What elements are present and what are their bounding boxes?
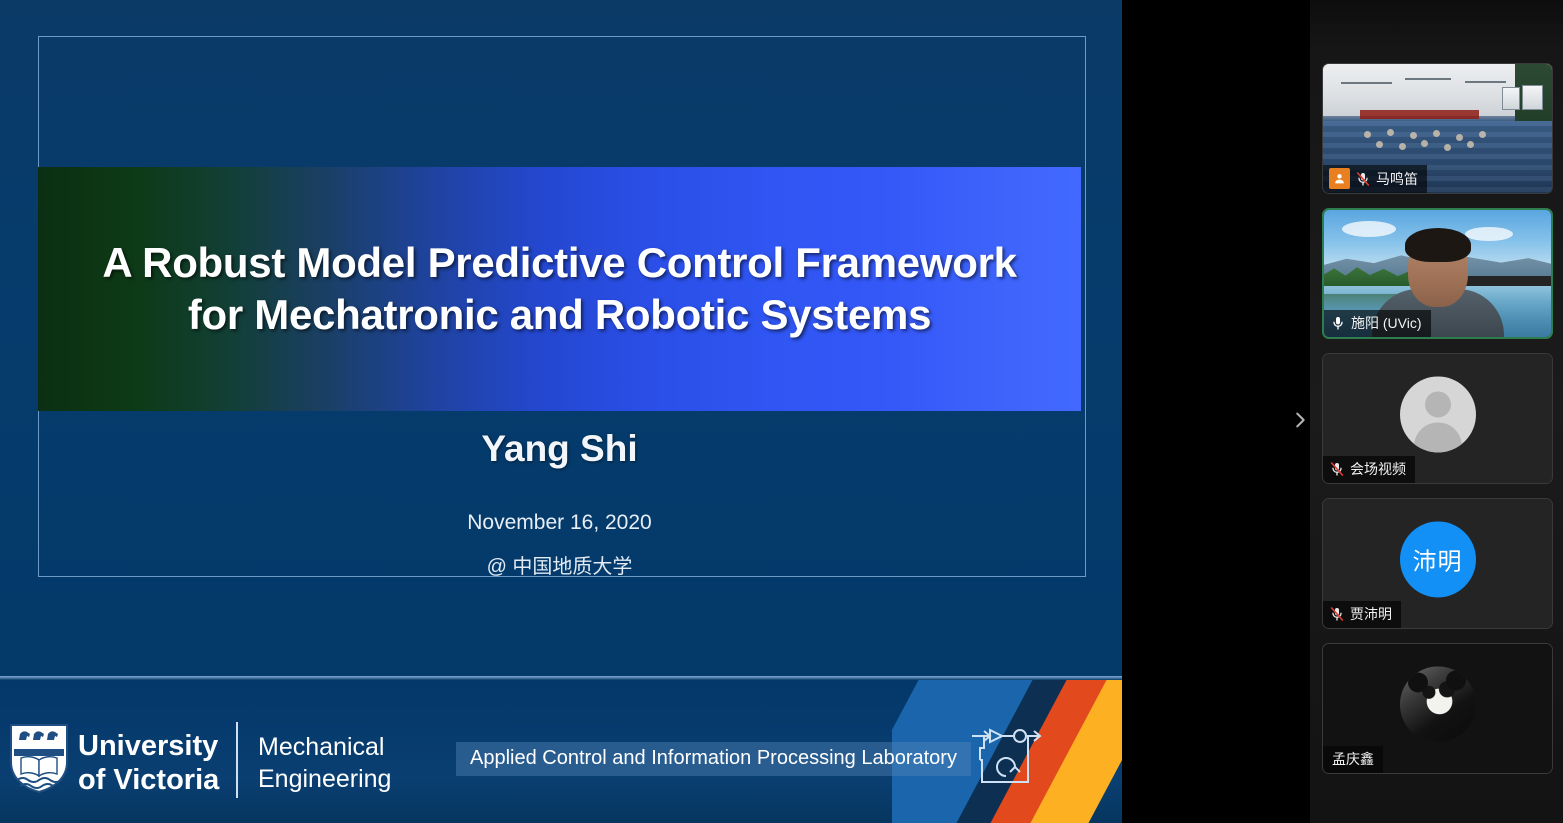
participant-name: 施阳 (UVic): [1351, 313, 1422, 333]
slide-title-line1: A Robust Model Predictive Control Framew…: [102, 239, 1016, 286]
slide-date: November 16, 2020: [38, 511, 1081, 535]
participant-name: 马鸣笛: [1376, 169, 1418, 189]
zoom-meeting-window: A Robust Model Predictive Control Framew…: [0, 0, 1563, 823]
slide-canvas: A Robust Model Predictive Control Framew…: [0, 0, 1122, 676]
participant-name: 孟庆鑫: [1332, 749, 1374, 769]
participant-name-label: 贾沛明: [1323, 601, 1401, 628]
shared-screen-presentation[interactable]: A Robust Model Predictive Control Framew…: [0, 0, 1122, 823]
slide-venue: @ 中国地质大学: [38, 550, 1081, 579]
slide-title-line2: for Mechatronic and Robotic Systems: [188, 291, 931, 338]
default-avatar-icon: [1400, 376, 1476, 452]
photo-avatar-panda: [1400, 666, 1476, 742]
participant-tile[interactable]: 孟庆鑫: [1322, 643, 1553, 774]
chevron-right-icon[interactable]: [1288, 405, 1312, 435]
participant-name-label: 孟庆鑫: [1323, 746, 1383, 773]
department-line1: Mechanical: [258, 732, 391, 764]
slide-title-banner: A Robust Model Predictive Control Framew…: [38, 167, 1081, 411]
participant-tile[interactable]: 沛明 贾沛明: [1322, 498, 1553, 629]
slide-author: Yang Shi: [38, 428, 1081, 470]
university-line2: of Victoria: [78, 764, 219, 798]
participant-name: 贾沛明: [1350, 604, 1392, 624]
participant-name-label: 会场视频: [1323, 456, 1415, 483]
slide-title: A Robust Model Predictive Control Framew…: [38, 237, 1081, 342]
department-line2: Engineering: [258, 764, 391, 796]
brand-divider-rule: [236, 722, 238, 798]
participant-tile-active-speaker[interactable]: 施阳 (UVic): [1322, 208, 1553, 339]
mic-muted-icon: [1355, 170, 1371, 188]
participant-name: 会场视频: [1350, 459, 1406, 479]
control-loop-diagram-icon: [966, 718, 1044, 790]
sidebar-gap: [1122, 0, 1310, 823]
participant-name-label: 施阳 (UVic): [1324, 310, 1431, 337]
mic-active-icon: [1330, 314, 1346, 332]
participant-tile[interactable]: 马鸣笛: [1322, 63, 1553, 194]
uvic-shield-crest-icon: [8, 722, 70, 794]
participant-tile[interactable]: 会场视频: [1322, 353, 1553, 484]
department-name: Mechanical Engineering: [258, 732, 391, 795]
lab-name-chip: Applied Control and Information Processi…: [456, 742, 971, 776]
participant-hair: [1405, 228, 1471, 262]
mic-muted-icon: [1329, 460, 1345, 478]
mic-muted-icon: [1329, 605, 1345, 623]
university-line1: University: [78, 730, 219, 764]
host-badge-icon: [1329, 168, 1350, 189]
initials-avatar: 沛明: [1400, 521, 1476, 597]
university-wordmark: University of Victoria: [78, 730, 219, 797]
participant-name-label: 马鸣笛: [1323, 165, 1427, 193]
participant-video-sidebar[interactable]: 马鸣笛: [1310, 0, 1563, 823]
